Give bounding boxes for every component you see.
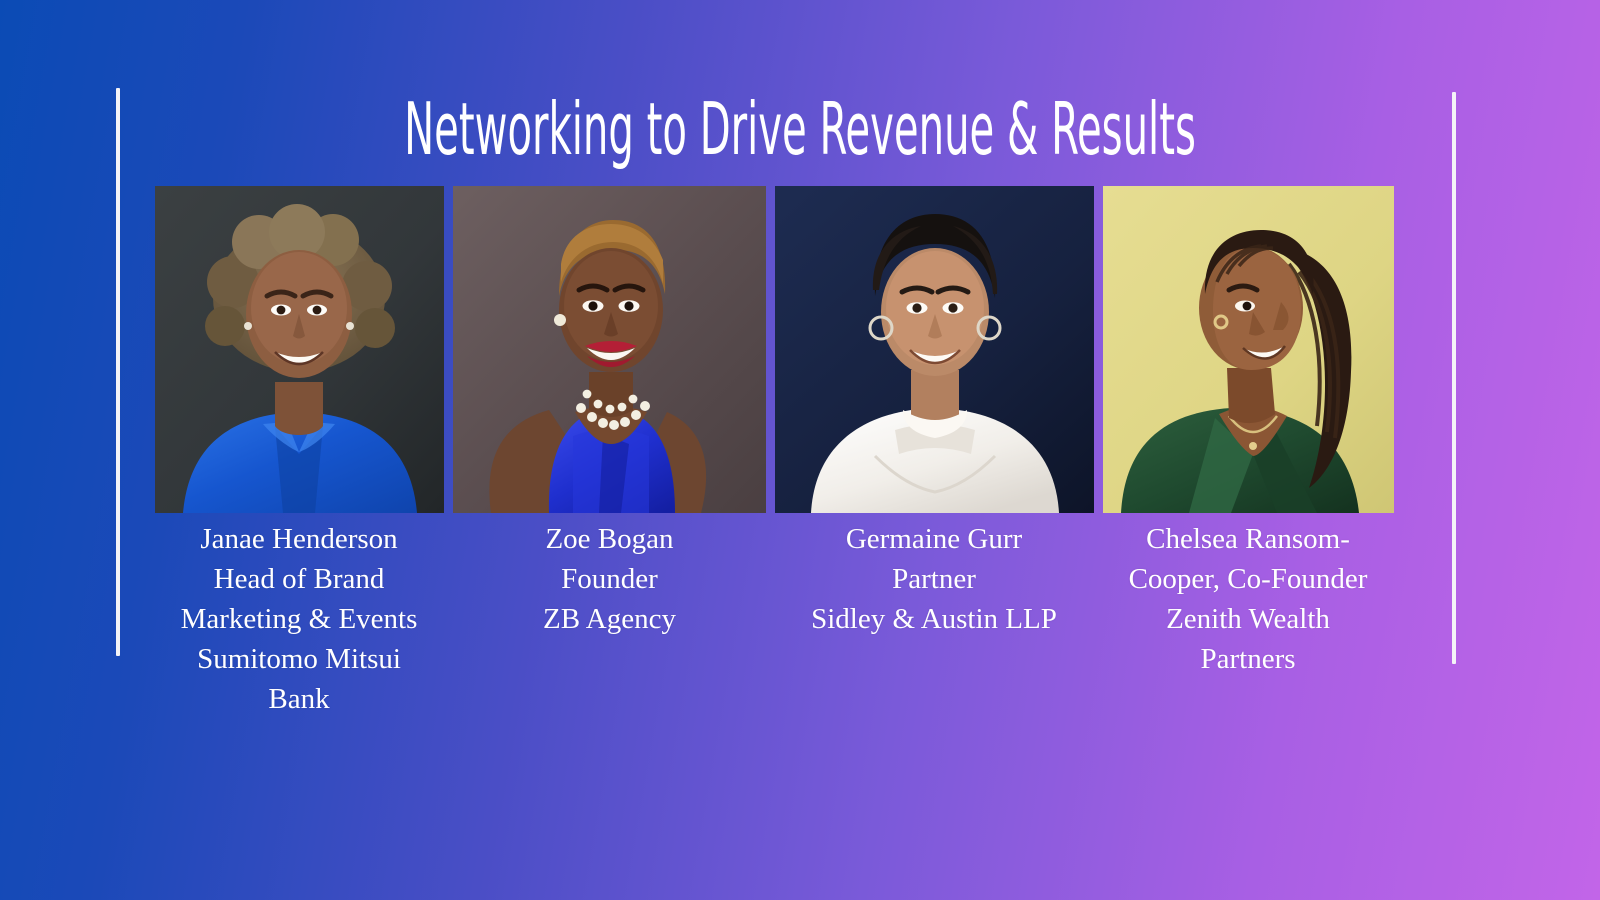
- speaker-grid: Janae Henderson Head of Brand Marketing …: [155, 186, 1400, 719]
- right-accent-rule: [1452, 92, 1456, 664]
- caption-line: Sumitomo Mitsui: [149, 639, 449, 679]
- speaker-card-janae-henderson: Janae Henderson Head of Brand Marketing …: [155, 186, 444, 719]
- caption-line: Partner: [769, 559, 1099, 599]
- speaker-caption-germaine-gurr: Germaine Gurr Partner Sidley & Austin LL…: [769, 519, 1099, 639]
- speaker-caption-janae-henderson: Janae Henderson Head of Brand Marketing …: [149, 519, 449, 719]
- left-accent-rule: [116, 88, 120, 656]
- caption-line: Germaine Gurr: [769, 519, 1099, 559]
- speaker-photo-janae-henderson: [155, 186, 444, 513]
- caption-line: Zenith Wealth: [1098, 599, 1398, 639]
- poster-title: Networking to Drive Revenue & Results: [304, 86, 1296, 172]
- poster-canvas: Networking to Drive Revenue & Results: [0, 0, 1600, 900]
- speaker-card-germaine-gurr: Germaine Gurr Partner Sidley & Austin LL…: [775, 186, 1094, 639]
- caption-line: Bank: [149, 679, 449, 719]
- speaker-caption-chelsea-ransom-cooper: Chelsea Ransom- Cooper, Co-Founder Zenit…: [1098, 519, 1398, 679]
- speaker-photo-chelsea-ransom-cooper: [1103, 186, 1394, 513]
- speaker-card-zoe-bogan: Zoe Bogan Founder ZB Agency: [453, 186, 766, 639]
- caption-line: Founder: [453, 559, 766, 599]
- speaker-photo-zoe-bogan: [453, 186, 766, 513]
- caption-line: Chelsea Ransom-: [1098, 519, 1398, 559]
- caption-line: Sidley & Austin LLP: [769, 599, 1099, 639]
- caption-line: Cooper, Co-Founder: [1098, 559, 1398, 599]
- caption-line: ZB Agency: [453, 599, 766, 639]
- caption-line: Janae Henderson: [149, 519, 449, 559]
- caption-line: Head of Brand: [149, 559, 449, 599]
- caption-line: Marketing & Events: [149, 599, 449, 639]
- speaker-card-chelsea-ransom-cooper: Chelsea Ransom- Cooper, Co-Founder Zenit…: [1103, 186, 1394, 679]
- caption-line: Partners: [1098, 639, 1398, 679]
- speaker-caption-zoe-bogan: Zoe Bogan Founder ZB Agency: [453, 519, 766, 639]
- caption-line: Zoe Bogan: [453, 519, 766, 559]
- speaker-photo-germaine-gurr: [775, 186, 1094, 513]
